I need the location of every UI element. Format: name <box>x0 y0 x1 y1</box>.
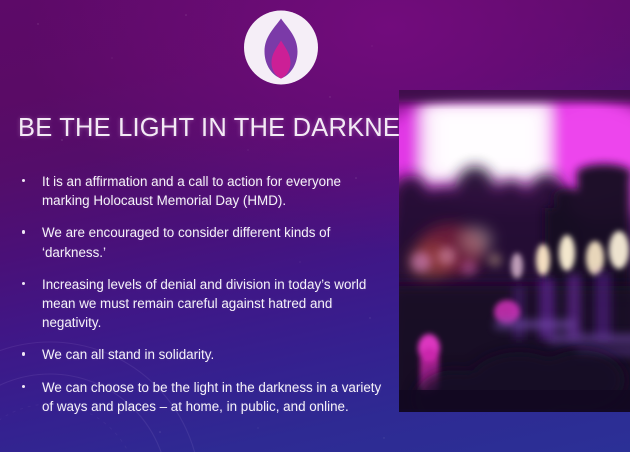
presentation-slide: BE THE LIGHT IN THE DARKNESS It is an af… <box>0 0 630 452</box>
list-item-text: Increasing levels of denial and division… <box>42 277 366 330</box>
bullet-dot-icon <box>22 179 25 182</box>
list-item-text: We can all stand in solidarity. <box>42 347 214 362</box>
hmd-flame-logo <box>243 9 319 86</box>
list-item-text: We can choose to be the light in the dar… <box>42 380 381 414</box>
bullet-dot-icon <box>22 352 25 355</box>
list-item: We are encouraged to consider different … <box>18 223 384 261</box>
candle-ceremony-photo <box>399 90 630 412</box>
list-item-text: We are encouraged to consider different … <box>42 225 330 259</box>
bullet-dot-icon <box>22 230 25 233</box>
bullet-dot-icon <box>22 282 25 285</box>
list-item: We can all stand in solidarity. <box>18 345 384 364</box>
list-item: It is an affirmation and a call to actio… <box>18 172 384 210</box>
list-item-text: It is an affirmation and a call to actio… <box>42 174 341 208</box>
list-item: We can choose to be the light in the dar… <box>18 378 384 416</box>
list-item: Increasing levels of denial and division… <box>18 275 384 333</box>
bullet-list: It is an affirmation and a call to actio… <box>18 172 384 416</box>
bullet-dot-icon <box>22 385 25 388</box>
slide-title: BE THE LIGHT IN THE DARKNESS <box>18 113 390 143</box>
